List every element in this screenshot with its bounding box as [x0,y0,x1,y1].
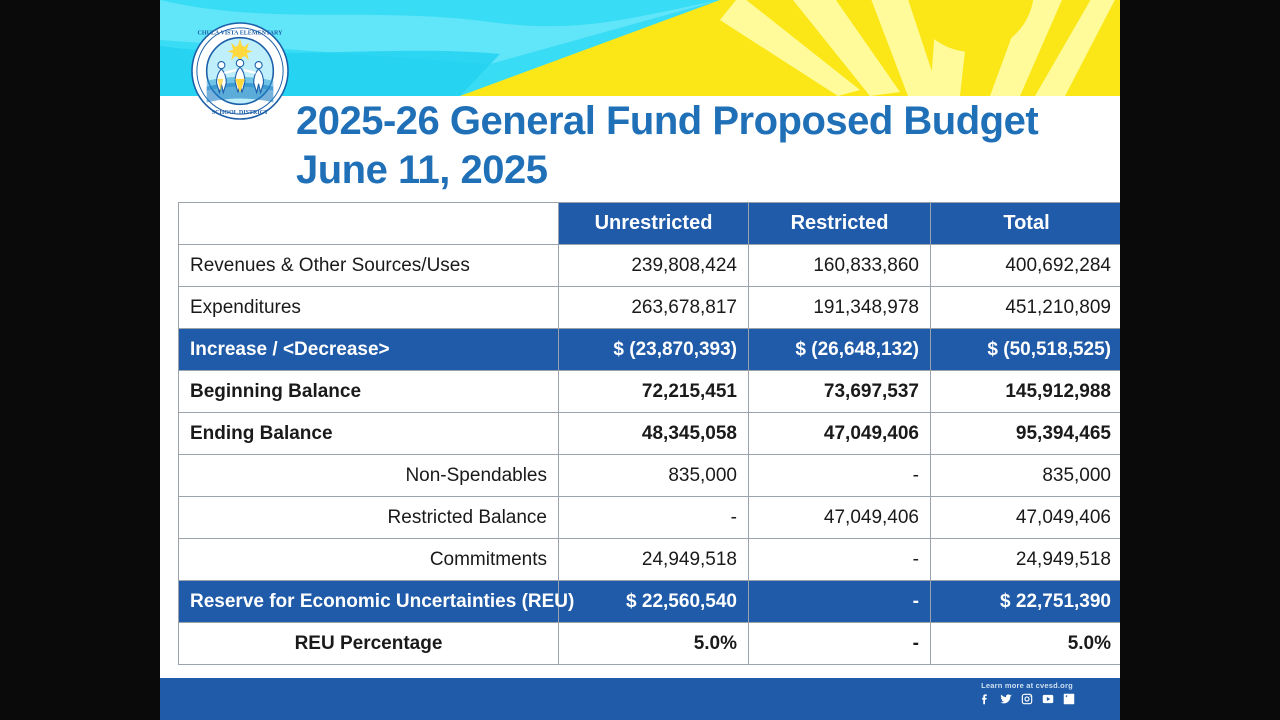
header-blank [179,203,559,245]
cell-restricted: $ (26,648,132) [749,329,931,371]
row-label: Reserve for Economic Uncertainties (REU) [179,581,559,623]
cell-unrestricted: 239,808,424 [559,245,749,287]
table-row: Non-Spendables835,000-835,000 [179,455,1121,497]
cell-unrestricted: $ (23,870,393) [559,329,749,371]
table-header: Unrestricted Restricted Total [179,203,1121,245]
cell-unrestricted: 835,000 [559,455,749,497]
cell-restricted: - [749,623,931,665]
cell-restricted: - [749,539,931,581]
table-row: Revenues & Other Sources/Uses239,808,424… [179,245,1121,287]
header-row: Unrestricted Restricted Total [179,203,1121,245]
title-line-1: 2025-26 General Fund Proposed Budget [296,96,1106,146]
cell-restricted: - [749,581,931,623]
row-label: Restricted Balance [179,497,559,539]
table-row: Beginning Balance72,215,45173,697,537145… [179,371,1121,413]
facebook-icon[interactable] [978,692,992,706]
cell-total: 400,692,284 [931,245,1121,287]
row-label: Expenditures [179,287,559,329]
cell-total: 451,210,809 [931,287,1121,329]
cell-restricted: - [749,455,931,497]
cell-total: $ (50,518,525) [931,329,1121,371]
cell-total: 24,949,518 [931,539,1121,581]
cell-total: 835,000 [931,455,1121,497]
cell-unrestricted: $ 22,560,540 [559,581,749,623]
cell-restricted: 73,697,537 [749,371,931,413]
cell-restricted: 160,833,860 [749,245,931,287]
cell-unrestricted: 48,345,058 [559,413,749,455]
table-row: Expenditures263,678,817191,348,978451,21… [179,287,1121,329]
table-row: Reserve for Economic Uncertainties (REU)… [179,581,1121,623]
footer-social-block: Learn more at cvesd.org [942,681,1112,706]
linkedin-icon[interactable] [1062,692,1076,706]
cell-total: 145,912,988 [931,371,1121,413]
cell-unrestricted: 263,678,817 [559,287,749,329]
row-label: Beginning Balance [179,371,559,413]
row-label: REU Percentage [179,623,559,665]
row-label: Ending Balance [179,413,559,455]
row-label: Revenues & Other Sources/Uses [179,245,559,287]
title-line-2: June 11, 2025 [296,146,1106,194]
district-logo: CHULA VISTA ELEMENTARY SCHOOL DISTRICT [191,22,289,120]
cell-restricted: 191,348,978 [749,287,931,329]
cell-unrestricted: 5.0% [559,623,749,665]
cell-total: 95,394,465 [931,413,1121,455]
table-body: Revenues & Other Sources/Uses239,808,424… [179,245,1121,665]
cell-total: $ 22,751,390 [931,581,1121,623]
table-row: REU Percentage5.0%-5.0% [179,623,1121,665]
presentation-slide: CHULA VISTA ELEMENTARY SCHOOL DISTRICT 2… [160,0,1120,720]
slide-footer: Learn more at cvesd.org [160,678,1120,720]
row-label: Non-Spendables [179,455,559,497]
table-row: Commitments24,949,518-24,949,518 [179,539,1121,581]
footer-learn-more: Learn more at cvesd.org [942,681,1112,690]
table-row: Ending Balance48,345,05847,049,40695,394… [179,413,1121,455]
instagram-icon[interactable] [1020,692,1034,706]
screen: CHULA VISTA ELEMENTARY SCHOOL DISTRICT 2… [0,0,1280,720]
youtube-icon[interactable] [1041,692,1055,706]
social-icon-row [942,692,1112,706]
row-label: Commitments [179,539,559,581]
row-label: Increase / <Decrease> [179,329,559,371]
cell-total: 5.0% [931,623,1121,665]
cell-unrestricted: 72,215,451 [559,371,749,413]
cell-restricted: 47,049,406 [749,413,931,455]
logo-top-text: CHULA VISTA ELEMENTARY [197,31,283,37]
twitter-icon[interactable] [999,692,1013,706]
budget-table: Unrestricted Restricted Total Revenues &… [178,202,1120,665]
header-restricted: Restricted [749,203,931,245]
header-unrestricted: Unrestricted [559,203,749,245]
cell-restricted: 47,049,406 [749,497,931,539]
cell-unrestricted: 24,949,518 [559,539,749,581]
slide-title: 2025-26 General Fund Proposed Budget Jun… [296,96,1106,194]
header-total: Total [931,203,1121,245]
table-row: Increase / <Decrease>$ (23,870,393)$ (26… [179,329,1121,371]
cell-unrestricted: - [559,497,749,539]
table-row: Restricted Balance-47,049,40647,049,406 [179,497,1121,539]
logo-bottom-text: SCHOOL DISTRICT [212,110,268,116]
cell-total: 47,049,406 [931,497,1121,539]
